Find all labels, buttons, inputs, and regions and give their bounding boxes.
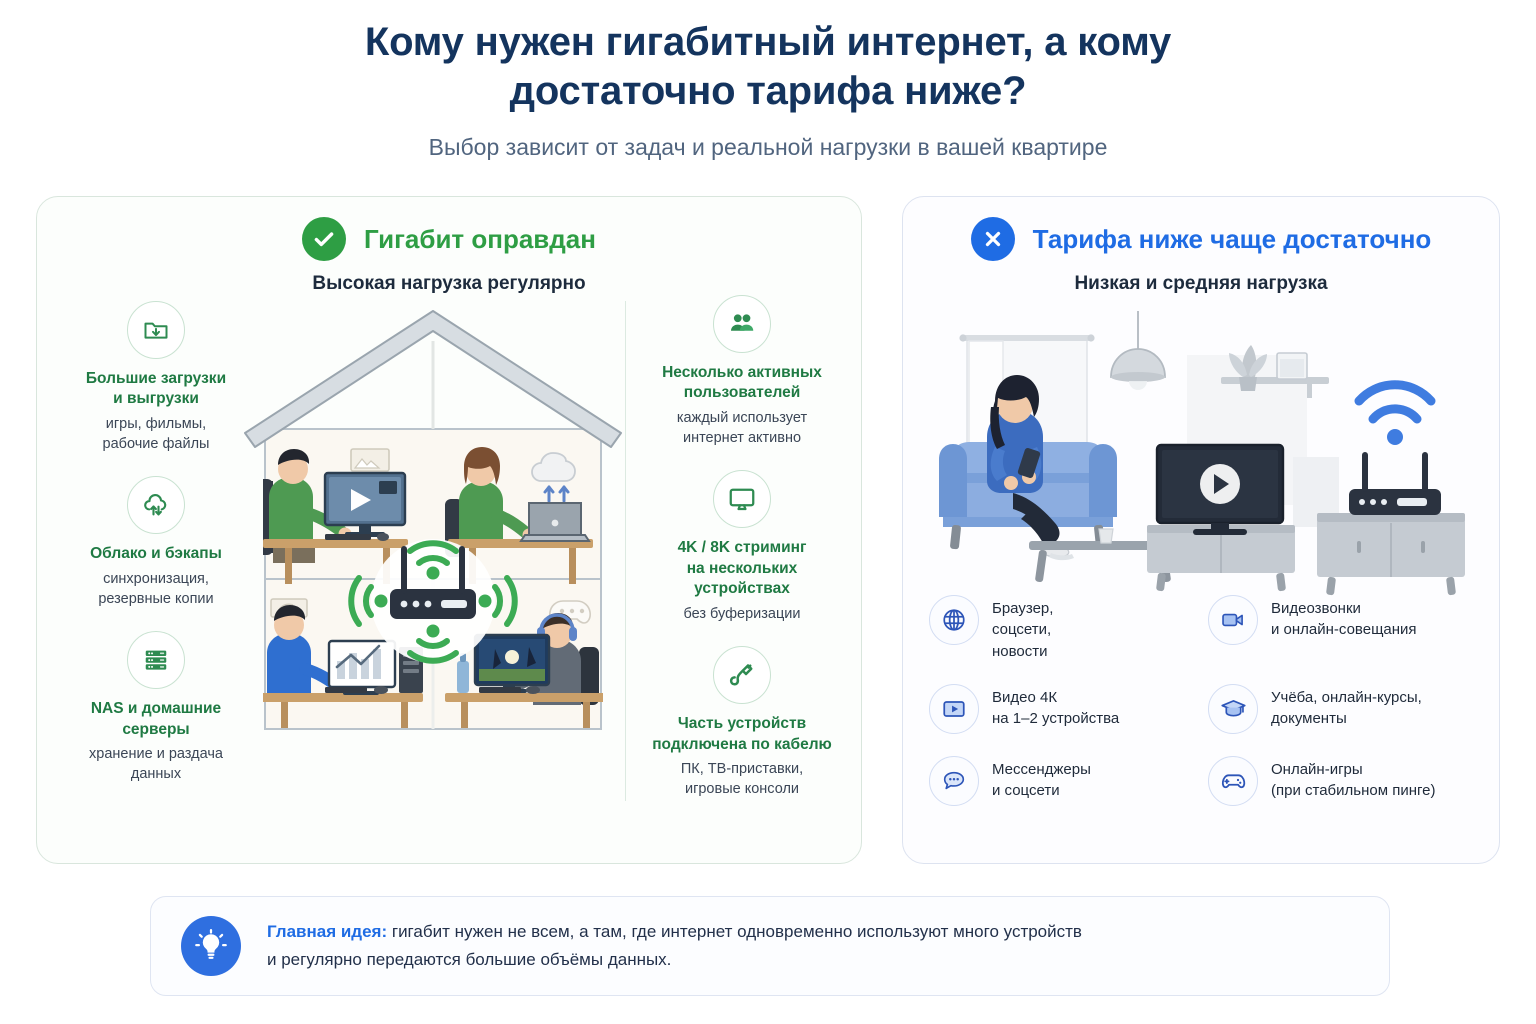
page-title: Кому нужен гигабитный интернет, а кому д… bbox=[0, 18, 1536, 116]
feature-desc-line-2: интернет активно bbox=[683, 430, 801, 446]
right-feature-column: Несколько активных пользователей каждый … bbox=[637, 295, 847, 822]
list-item-line-1: Мессенджеры bbox=[992, 761, 1091, 778]
list-item-line-2: на 1–2 устройства bbox=[992, 710, 1119, 727]
lightbulb-icon bbox=[181, 916, 241, 976]
feature-desc-line-1: игры, фильмы, bbox=[106, 416, 206, 432]
right-panel-header: Тарифа ниже чаще достаточно Низкая и сре… bbox=[903, 197, 1499, 295]
feature-desc-line-2: рабочие файлы bbox=[103, 436, 210, 452]
page-title-line-1: Кому нужен гигабитный интернет, а кому bbox=[365, 20, 1171, 64]
feature-title-line-3: устройствах bbox=[694, 580, 790, 597]
list-item-line-2: соцсети, bbox=[992, 621, 1051, 638]
list-item-line-1: Учёба, онлайн-курсы, bbox=[1271, 689, 1422, 706]
key-idea-callout: Главная идея: гигабит нужен не всем, а т… bbox=[150, 896, 1390, 996]
left-panel-header: Гигабит оправдан Высокая нагрузка регуля… bbox=[37, 197, 861, 295]
feature-title-line-2: на нескольких bbox=[687, 560, 798, 577]
x-circle-icon bbox=[971, 217, 1015, 261]
feature-desc-line-1: ПК, ТВ-приставки, bbox=[681, 761, 803, 777]
infographic-page: Кому нужен гигабитный интернет, а кому д… bbox=[0, 0, 1536, 1024]
list-item-line-1: Видео 4К bbox=[992, 689, 1057, 706]
list-item-line-2: и онлайн-совещания bbox=[1271, 621, 1417, 638]
usage-list: Браузер, соцсети, новости Видеозвонки и … bbox=[929, 595, 1477, 806]
key-idea-text-line-2: и регулярно передаются большие объёмы да… bbox=[267, 950, 671, 969]
feature-title-line-1: Часть устройств bbox=[678, 715, 806, 732]
panel-lower-tariff-enough: Тарифа ниже чаще достаточно Низкая и сре… bbox=[902, 196, 1500, 864]
ethernet-cable-icon bbox=[713, 646, 771, 704]
key-idea-label: Главная идея: bbox=[267, 922, 387, 941]
check-circle-icon bbox=[302, 217, 346, 261]
list-item-browser: Браузер, соцсети, новости bbox=[929, 595, 1198, 662]
list-item-line-2: (при стабильном пинге) bbox=[1271, 782, 1435, 799]
feature-desc-line-1: синхронизация, bbox=[103, 571, 209, 587]
living-room-illustration bbox=[925, 297, 1481, 597]
feature-title-line-2: серверы bbox=[122, 721, 189, 738]
list-item-line-3: новости bbox=[992, 643, 1048, 660]
page-subtitle: Выбор зависит от задач и реальной нагруз… bbox=[0, 134, 1536, 161]
right-panel-title: Тарифа ниже чаще достаточно bbox=[1033, 224, 1432, 255]
right-panel-subtitle: Низкая и средняя нагрузка bbox=[903, 273, 1499, 295]
feature-wired-devices: Часть устройств подключена по кабелю ПК,… bbox=[637, 646, 847, 799]
monitor-icon bbox=[713, 470, 771, 528]
feature-4k-8k-streaming: 4K / 8K стриминг на нескольких устройств… bbox=[637, 470, 847, 624]
list-item-line-1: Браузер, bbox=[992, 600, 1053, 617]
feature-title-line-1: Несколько активных bbox=[662, 364, 822, 381]
list-item-video-calls: Видеозвонки и онлайн-совещания bbox=[1208, 595, 1477, 662]
graduation-cap-icon bbox=[1208, 684, 1258, 734]
page-title-line-2: достаточно тарифа ниже? bbox=[510, 69, 1027, 113]
feature-desc-line-2: игровые консоли bbox=[685, 781, 799, 797]
panel-divider bbox=[625, 301, 626, 801]
feature-cloud-backups: Облако и бэкапы синхронизация, резервные… bbox=[51, 476, 261, 609]
video-camera-icon bbox=[1208, 595, 1258, 645]
list-item-line-1: Онлайн-игры bbox=[1271, 761, 1363, 778]
globe-icon bbox=[929, 595, 979, 645]
feature-title: Облако и бэкапы bbox=[51, 544, 261, 564]
feature-title-line-1: Большие загрузки bbox=[86, 370, 226, 387]
feature-title-line-2: и выгрузки bbox=[113, 390, 199, 407]
feature-desc-line-1: каждый использует bbox=[677, 410, 807, 426]
feature-title-line-2: подключена по кабелю bbox=[652, 736, 832, 753]
list-item-online-games: Онлайн-игры (при стабильном пинге) bbox=[1208, 756, 1477, 806]
cloud-sync-icon bbox=[127, 476, 185, 534]
feature-desc: без буферизации bbox=[637, 605, 847, 625]
feature-multiple-active-users: Несколько активных пользователей каждый … bbox=[637, 295, 847, 448]
feature-desc-line-2: данных bbox=[131, 766, 181, 782]
chat-bubble-icon bbox=[929, 756, 979, 806]
left-feature-column: Большие загрузки и выгрузки игры, фильмы… bbox=[51, 301, 261, 807]
house-illustration bbox=[233, 301, 633, 771]
feature-title-line-1: NAS и домашние bbox=[91, 700, 221, 717]
feature-title-line-2: пользователей bbox=[684, 384, 801, 401]
header: Кому нужен гигабитный интернет, а кому д… bbox=[0, 18, 1536, 161]
feature-desc-line-2: резервные копии bbox=[98, 591, 213, 607]
server-stack-icon bbox=[127, 631, 185, 689]
list-item-line-2: и соцсети bbox=[992, 782, 1060, 799]
list-item-line-2: документы bbox=[1271, 710, 1347, 727]
feature-title-line-1: 4K / 8K стриминг bbox=[678, 539, 807, 556]
left-panel-title: Гигабит оправдан bbox=[364, 224, 596, 255]
panel-gigabit-justified: Гигабит оправдан Высокая нагрузка регуля… bbox=[36, 196, 862, 864]
folder-download-icon bbox=[127, 301, 185, 359]
play-box-icon bbox=[929, 684, 979, 734]
list-item-education: Учёба, онлайн-курсы, документы bbox=[1208, 684, 1477, 734]
key-idea-text-line-1: гигабит нужен не всем, а там, где интерн… bbox=[387, 922, 1082, 941]
feature-large-downloads: Большие загрузки и выгрузки игры, фильмы… bbox=[51, 301, 261, 454]
left-panel-subtitle: Высокая нагрузка регулярно bbox=[37, 273, 861, 295]
list-item-line-1: Видеозвонки bbox=[1271, 600, 1361, 617]
list-item-video-4k: Видео 4К на 1–2 устройства bbox=[929, 684, 1198, 734]
feature-nas-home-servers: NAS и домашние серверы хранение и раздач… bbox=[51, 631, 261, 784]
gamepad-icon bbox=[1208, 756, 1258, 806]
users-group-icon bbox=[713, 295, 771, 353]
list-item-messengers: Мессенджеры и соцсети bbox=[929, 756, 1198, 806]
feature-desc-line-1: хранение и раздача bbox=[89, 746, 223, 762]
